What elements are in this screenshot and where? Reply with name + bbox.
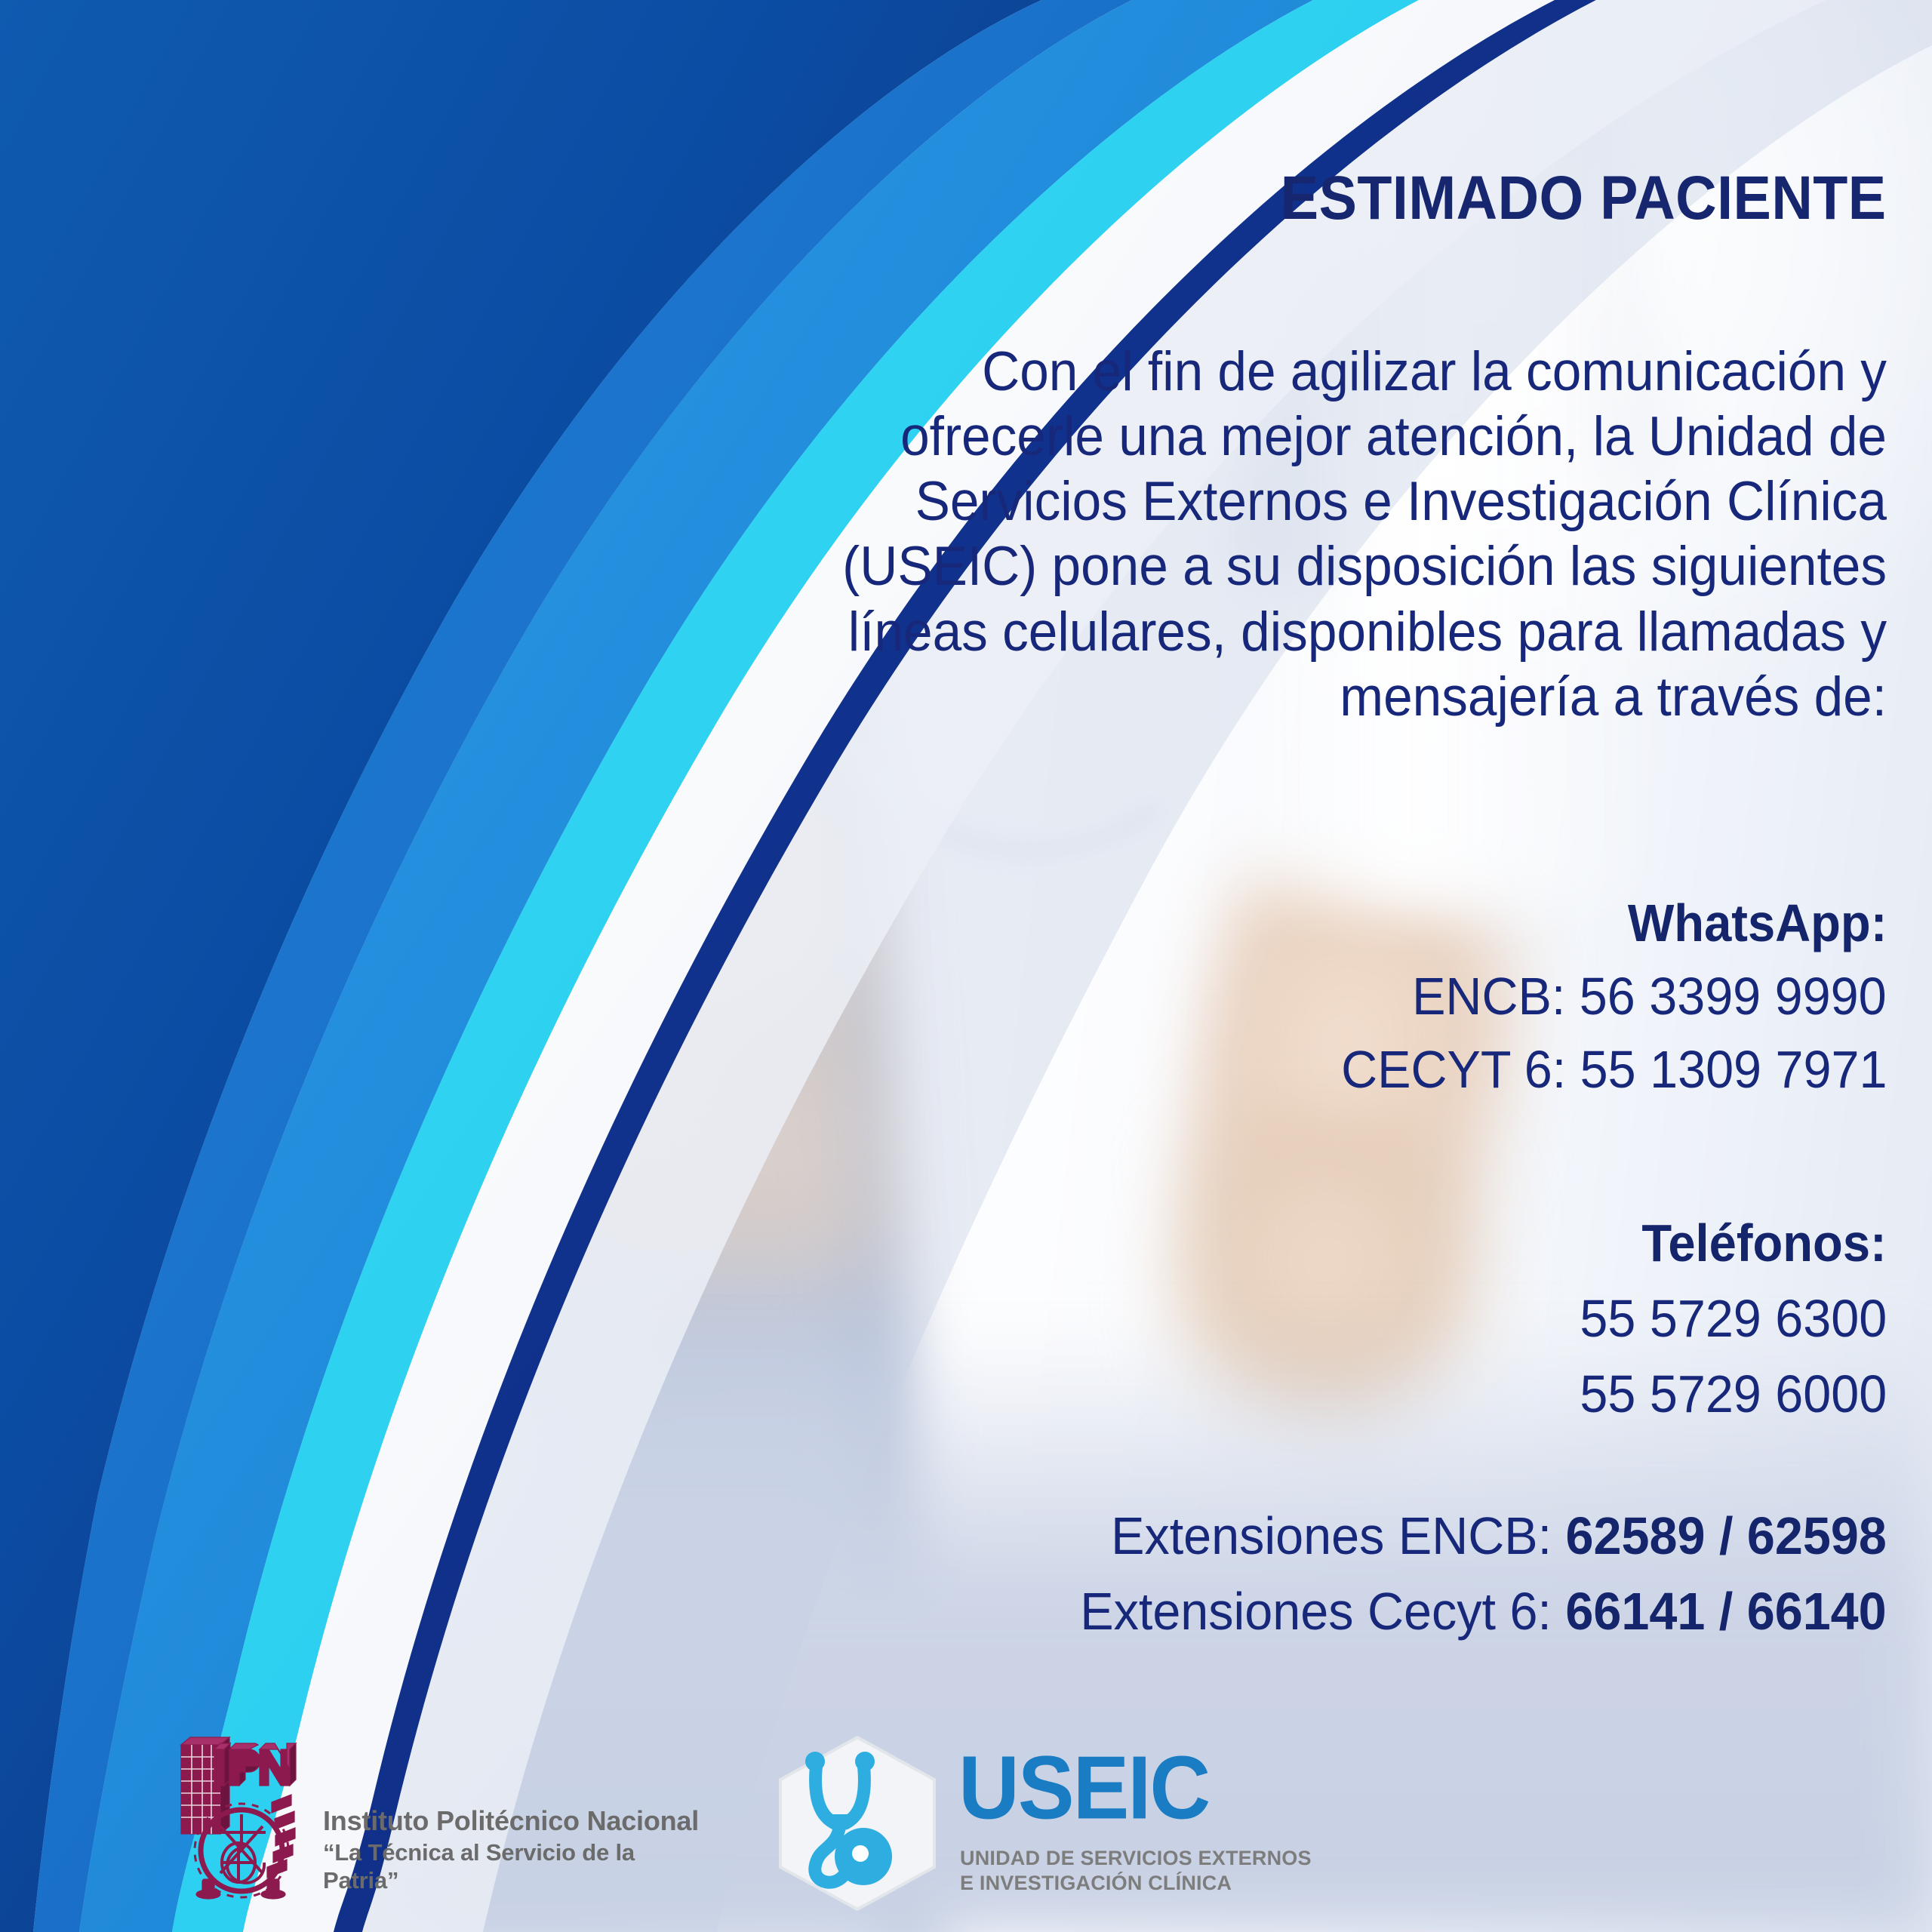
telefono-number-2[interactable]: 55 5729 6000 bbox=[1580, 1367, 1887, 1420]
extensiones-cecyt-label: Extensiones Cecyt 6: bbox=[1081, 1582, 1566, 1641]
useic-subtitle: UNIDAD DE SERVICIOS EXTERNOS E INVESTIGA… bbox=[960, 1846, 1315, 1897]
useic-subtitle-line-2: E INVESTIGACIÓN CLÍNICA bbox=[960, 1871, 1315, 1896]
whatsapp-cecyt-number[interactable]: CECYT 6: 55 1309 7971 bbox=[1341, 1043, 1887, 1096]
page-title: ESTIMADO PACIENTE bbox=[1281, 168, 1887, 229]
poster-canvas: ESTIMADO PACIENTE Con el fin de agilizar… bbox=[0, 0, 1932, 1932]
whatsapp-encb-number[interactable]: ENCB: 56 3399 9990 bbox=[1412, 970, 1887, 1023]
ipn-logo: Instituto Politécnico Nacional “La Técni… bbox=[172, 1730, 700, 1911]
extensiones-encb-value[interactable]: 62589 / 62598 bbox=[1566, 1506, 1887, 1565]
ipn-institution-name: Instituto Politécnico Nacional bbox=[323, 1805, 715, 1837]
intro-line-5: líneas celulares, disponibles para llama… bbox=[733, 600, 1887, 665]
ipn-text-block: Instituto Politécnico Nacional “La Técni… bbox=[323, 1805, 715, 1895]
telefono-number-1[interactable]: 55 5729 6300 bbox=[1580, 1292, 1887, 1345]
useic-logo: USEIC UNIDAD DE SERVICIOS EXTERNOS E INV… bbox=[770, 1733, 1313, 1921]
extensiones-cecyt-value[interactable]: 66141 / 66140 bbox=[1566, 1582, 1887, 1641]
intro-paragraph: Con el fin de agilizar la comunicación y… bbox=[733, 340, 1887, 730]
content-column: ESTIMADO PACIENTE Con el fin de agilizar… bbox=[649, 0, 1932, 1932]
extensiones-encb-label: Extensiones ENCB: bbox=[1111, 1506, 1565, 1565]
useic-subtitle-line-1: UNIDAD DE SERVICIOS EXTERNOS bbox=[960, 1846, 1315, 1871]
extensiones-encb-row: Extensiones ENCB: 62589 / 62598 bbox=[1111, 1509, 1887, 1562]
useic-hexagon-stethoscope-icon bbox=[770, 1733, 945, 1914]
intro-line-2: ofrecerle una mejor atención, la Unidad … bbox=[733, 405, 1887, 469]
whatsapp-heading: WhatsApp: bbox=[1627, 897, 1887, 949]
intro-line-6: mensajería a través de: bbox=[733, 665, 1887, 730]
intro-line-1: Con el fin de agilizar la comunicación y bbox=[733, 340, 1887, 405]
useic-wordmark: USEIC bbox=[958, 1743, 1209, 1833]
telefonos-heading: Teléfonos: bbox=[1642, 1217, 1887, 1269]
ipn-motto: “La Técnica al Servicio de la Patria” bbox=[323, 1839, 715, 1894]
extensiones-cecyt-row: Extensiones Cecyt 6: 66141 / 66140 bbox=[1081, 1585, 1887, 1638]
intro-line-3: Servicios Externos e Investigación Clíni… bbox=[733, 469, 1887, 534]
intro-line-4: (USEIC) pone a su disposición las siguie… bbox=[733, 534, 1887, 599]
ipn-seal-icon bbox=[172, 1730, 308, 1907]
